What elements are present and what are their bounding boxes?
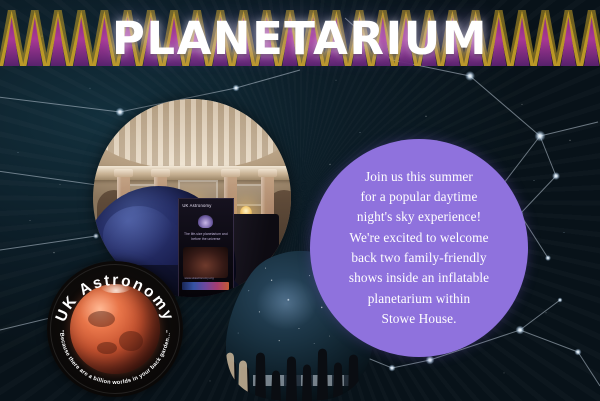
message-line: Join us this summer: [316, 167, 522, 187]
message-circle: Join us this summer for a popular daytim…: [310, 139, 528, 357]
badge-top-text: UK Astronomy: [53, 272, 178, 324]
message-line: for a popular daytime: [316, 187, 522, 207]
message-text: Join us this summer for a popular daytim…: [310, 167, 528, 330]
planetarium-poster: PLANETARIUM UK Astronomy: [0, 0, 600, 401]
svg-text:UK Astronomy: UK Astronomy: [53, 272, 178, 324]
banner-social-bar: [182, 282, 229, 290]
dome-highlight: [103, 206, 174, 265]
banner-title: UK Astronomy: [182, 203, 211, 208]
projection-glow: [256, 277, 317, 330]
page-title: PLANETARIUM: [0, 16, 600, 61]
banner-subtitle: The life-size planetarium and before the…: [183, 232, 228, 242]
message-line: shows inside an inflatable: [316, 268, 522, 288]
message-line: Stowe House.: [316, 309, 522, 329]
roll-up-banner: UK Astronomy The life-size planetarium a…: [178, 198, 233, 297]
banner-logo-icon: [198, 215, 213, 228]
badge-bottom-text: "Because there are a billion worlds in y…: [58, 330, 172, 386]
message-line: night's sky experience!: [316, 207, 522, 227]
banner-photo: [183, 247, 228, 277]
banner-footer: www.ukastronomy.org: [184, 276, 213, 280]
message-line: back two family-friendly: [316, 248, 522, 268]
badge-curved-text: UK Astronomy "Because there are a billio…: [47, 261, 183, 397]
svg-text:"Because there are a billion w: "Because there are a billion worlds in y…: [58, 330, 172, 386]
uk-astronomy-badge: UK Astronomy "Because there are a billio…: [47, 261, 183, 397]
message-line: We're excited to welcome: [316, 228, 522, 248]
rotunda-ceiling: [93, 99, 291, 170]
message-line: planetarium within: [316, 289, 522, 309]
